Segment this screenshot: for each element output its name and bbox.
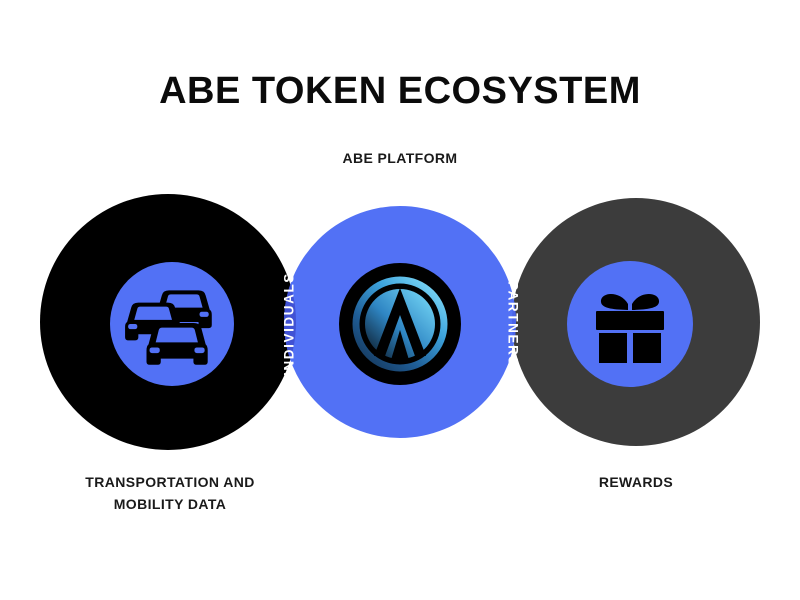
abe-logo-icon[interactable] — [339, 263, 461, 385]
caption-transportation: TRANSPORTATION AND MOBILITY DATA — [42, 472, 298, 515]
overlap-right-label: PARTNERS — [505, 281, 520, 367]
caption-rewards: REWARDS — [508, 472, 764, 494]
caption-rewards-line1: REWARDS — [508, 472, 764, 494]
infographic-canvas: ABE TOKEN ECOSYSTEM ABE PLATFORM — [0, 0, 800, 600]
circle-transportation[interactable] — [40, 194, 296, 450]
circle-rewards[interactable] — [512, 198, 760, 446]
caption-transportation-line1: TRANSPORTATION AND — [42, 472, 298, 494]
overlap-left-label: INDIVIDUALS — [282, 272, 297, 376]
caption-transportation-line2: MOBILITY DATA — [42, 494, 298, 516]
